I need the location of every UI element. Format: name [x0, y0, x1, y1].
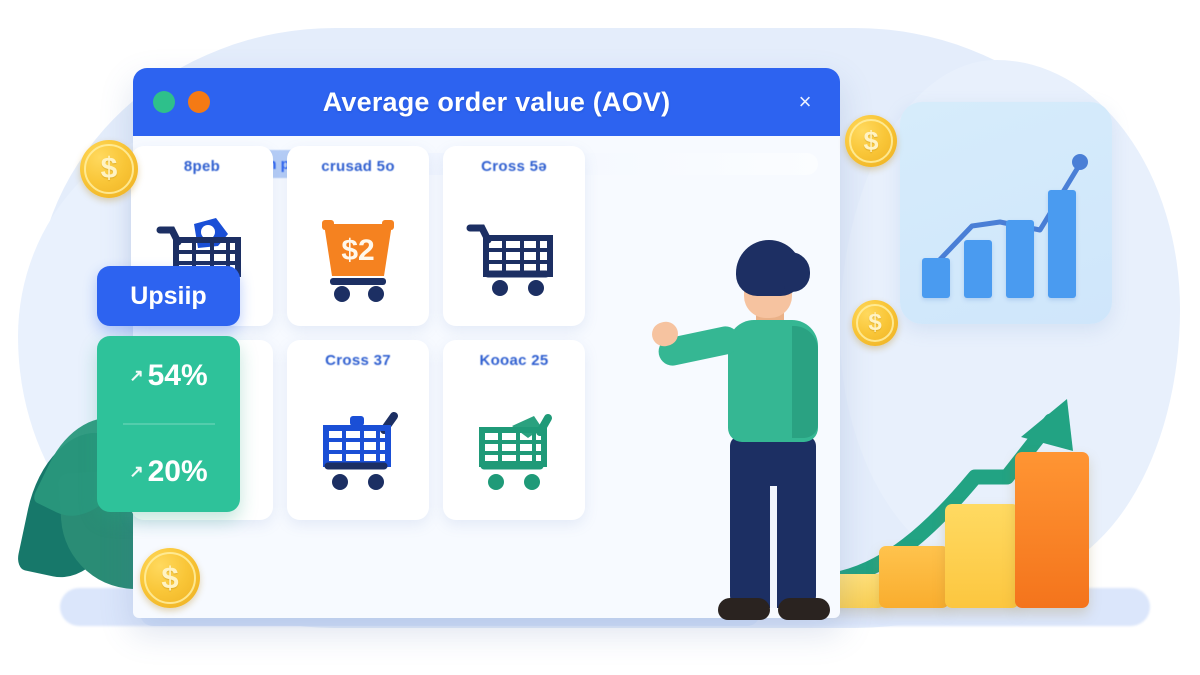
- stat-value: 54%: [148, 359, 208, 393]
- stats-card: ↗ 54% ↗ 20%: [97, 336, 240, 512]
- hair-side: [784, 252, 810, 292]
- card-6[interactable]: Kooac 25: [443, 340, 585, 520]
- bar-2: [964, 240, 992, 298]
- cart-orange-filled-icon: $2: [287, 181, 429, 326]
- card-label: 8peb: [184, 158, 220, 175]
- coin-icon: $: [845, 115, 897, 167]
- price-badge: $2: [341, 234, 374, 267]
- coin-icon: $: [852, 300, 898, 346]
- sweater-shade: [792, 326, 818, 438]
- card-label: Cross 37: [325, 352, 391, 369]
- coin-icon: $: [80, 140, 138, 198]
- bar-1: [922, 258, 950, 298]
- upsell-button[interactable]: Upsiip: [97, 266, 240, 326]
- mini-growth-chart-panel: [900, 102, 1112, 324]
- stat-row-1: ↗ 54%: [129, 359, 207, 393]
- bar-3: [1006, 220, 1034, 298]
- card-label: crusad 5o: [321, 158, 395, 175]
- window-titlebar: Average order value (AOV) ×: [133, 68, 840, 136]
- cart-navy-hand-icon: [443, 181, 585, 326]
- close-icon[interactable]: ×: [790, 87, 820, 117]
- card-2[interactable]: crusad 5o $2: [287, 146, 429, 326]
- trend-up-icon: ↗: [129, 462, 143, 482]
- shoe-left: [718, 598, 770, 620]
- card-label: Cross 5ə: [481, 158, 547, 175]
- growth-bars-3d: [815, 385, 1115, 630]
- leg-split: [770, 486, 777, 608]
- mini-chart-bars: [922, 190, 1076, 298]
- card-label: Kooac 25: [479, 352, 548, 369]
- illustration-canvas: Average order value (AOV) × Icon pill 8p…: [0, 0, 1200, 675]
- cart-blue-outline-icon: [287, 375, 429, 520]
- green-dot-icon[interactable]: [153, 91, 175, 113]
- shoe-right: [778, 598, 830, 620]
- bar-4: [1048, 190, 1076, 298]
- cart-green-with-item-icon: [443, 375, 585, 520]
- card-3[interactable]: Cross 5ə: [443, 146, 585, 326]
- card-5[interactable]: Cross 37: [287, 340, 429, 520]
- window-title: Average order value (AOV): [203, 87, 790, 118]
- person-illustration: [700, 240, 850, 640]
- trend-up-icon: ↗: [129, 366, 143, 386]
- stat-value: 20%: [148, 455, 208, 489]
- bar-2: [879, 546, 949, 608]
- bar-4: [1015, 452, 1089, 608]
- stat-row-2: ↗ 20%: [129, 455, 207, 489]
- bar-3: [945, 504, 1019, 608]
- divider: [123, 423, 215, 425]
- coin-icon: $: [140, 548, 200, 608]
